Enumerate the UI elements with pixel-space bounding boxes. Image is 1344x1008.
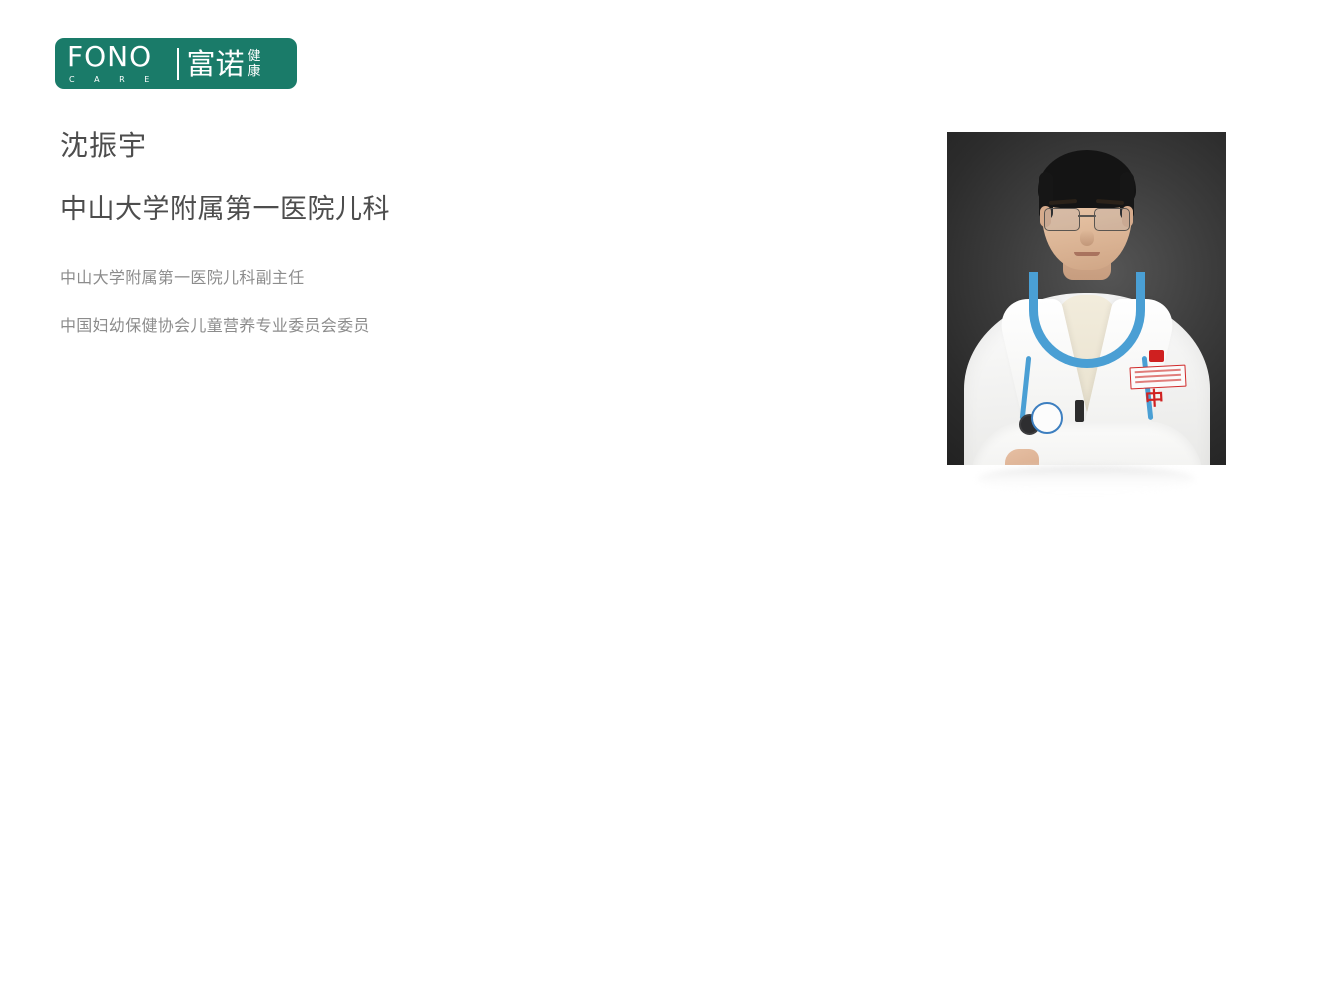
portrait-reflection [977, 466, 1195, 492]
nose [1080, 230, 1094, 246]
doctor-portrait-photo: 中 [947, 132, 1226, 465]
credentials-list: 中山大学附属第一医院儿科副主任 中国妇幼保健协会儿童营养专业委员会委员 [60, 268, 660, 364]
logo-chinese-suffix-bottom: 康 [248, 64, 261, 79]
glasses-lens-left [1044, 208, 1080, 231]
pocket-pen-icon [1075, 400, 1084, 422]
doctor-portrait: 中 [947, 132, 1226, 465]
pocket-badge-icon [1031, 402, 1063, 434]
logo-tagline: C A R E [69, 75, 158, 84]
logo-wordmark: FONO [67, 43, 152, 71]
hospital-name-badge [1129, 365, 1186, 390]
logo-latin-lockup: FONO C A R E [67, 44, 175, 84]
hospital-logo-icon: 中 [1145, 390, 1165, 410]
logo-chinese-suffix: 健 康 [248, 49, 261, 79]
brand-logo[interactable]: FONO C A R E 富诺 健 康 [55, 38, 297, 89]
glasses-icon [1044, 208, 1130, 230]
hand [1005, 449, 1039, 465]
doctor-affiliation: 中山大学附属第一医院儿科 [60, 193, 390, 227]
logo-divider [177, 48, 179, 80]
lapel-pin-icon [1149, 350, 1164, 362]
credential-item: 中山大学附属第一医院儿科副主任 [60, 268, 660, 288]
glasses-lens-right [1094, 208, 1130, 231]
crossed-arms [971, 421, 1203, 465]
doctor-name: 沈振宇 [60, 129, 147, 163]
logo-chinese-suffix-top: 健 [248, 49, 261, 64]
mouth [1074, 252, 1100, 256]
logo-chinese-name: 富诺 [187, 49, 245, 79]
credential-item: 中国妇幼保健协会儿童营养专业委员会委员 [60, 316, 660, 336]
